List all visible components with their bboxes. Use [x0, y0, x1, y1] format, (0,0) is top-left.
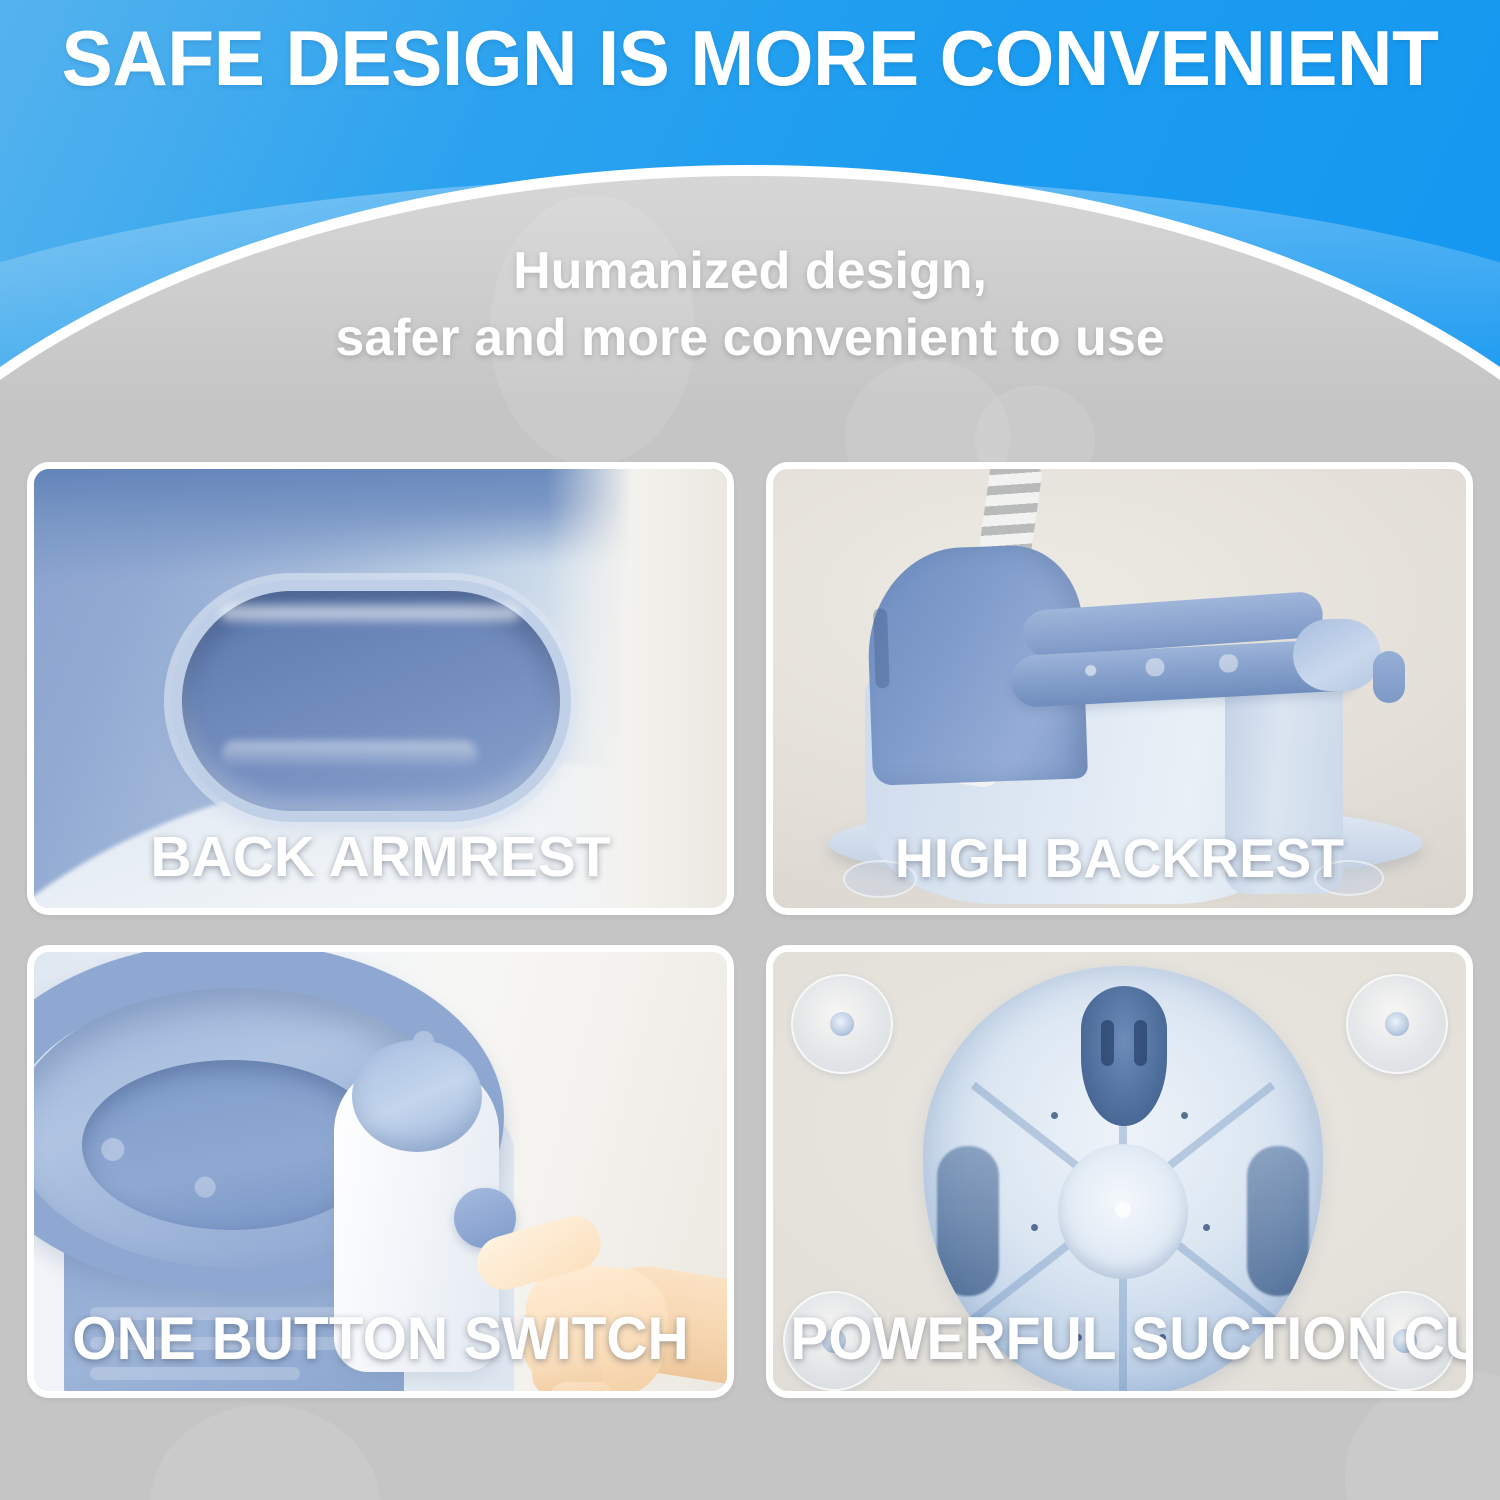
- underside-well-left: [937, 1146, 999, 1296]
- feature-label-powerful-suction-cup: POWERFUL SUCTION CUP: [790, 1309, 1448, 1369]
- backrest-mount-socket: [1081, 986, 1167, 1126]
- page-title: SAFE DESIGN IS MORE CONVENIENT: [11, 18, 1489, 100]
- subtitle-line-1: Humanized design,: [0, 238, 1500, 305]
- switch-dome-cap: [352, 1040, 482, 1152]
- page-subtitle: Humanized design, safer and more conveni…: [0, 238, 1500, 371]
- underside-center-hub: [1058, 1144, 1188, 1279]
- feature-panel-powerful-suction-cup[interactable]: POWERFUL SUCTION CUP: [766, 945, 1473, 1398]
- feature-label-high-backrest: HIGH BACKREST: [780, 831, 1459, 886]
- suction-cup-top-left: [791, 974, 893, 1074]
- seat-side-button: [1373, 651, 1405, 703]
- feature-panel-grid: BACK ARMREST HIGH BACKREST: [27, 462, 1473, 1398]
- armrest-handle-recess: [182, 591, 560, 811]
- seat-side-knob: [1293, 619, 1381, 691]
- subtitle-line-2: safer and more convenient to use: [0, 305, 1500, 372]
- feature-panel-back-armrest[interactable]: BACK ARMREST: [27, 462, 734, 915]
- feature-label-one-button-switch: ONE BUTTON SWITCH: [51, 1309, 709, 1369]
- product-infographic-poster: SAFE DESIGN IS MORE CONVENIENT Humanized…: [0, 0, 1500, 1500]
- suction-cup-top-right: [1346, 974, 1448, 1074]
- armrest-highlight: [220, 605, 520, 621]
- feature-panel-one-button-switch[interactable]: ONE BUTTON SWITCH: [27, 945, 734, 1398]
- feature-label-back-armrest: BACK ARMREST: [34, 829, 727, 886]
- feature-panel-high-backrest[interactable]: HIGH BACKREST: [766, 462, 1473, 915]
- underside-well-right: [1247, 1146, 1309, 1296]
